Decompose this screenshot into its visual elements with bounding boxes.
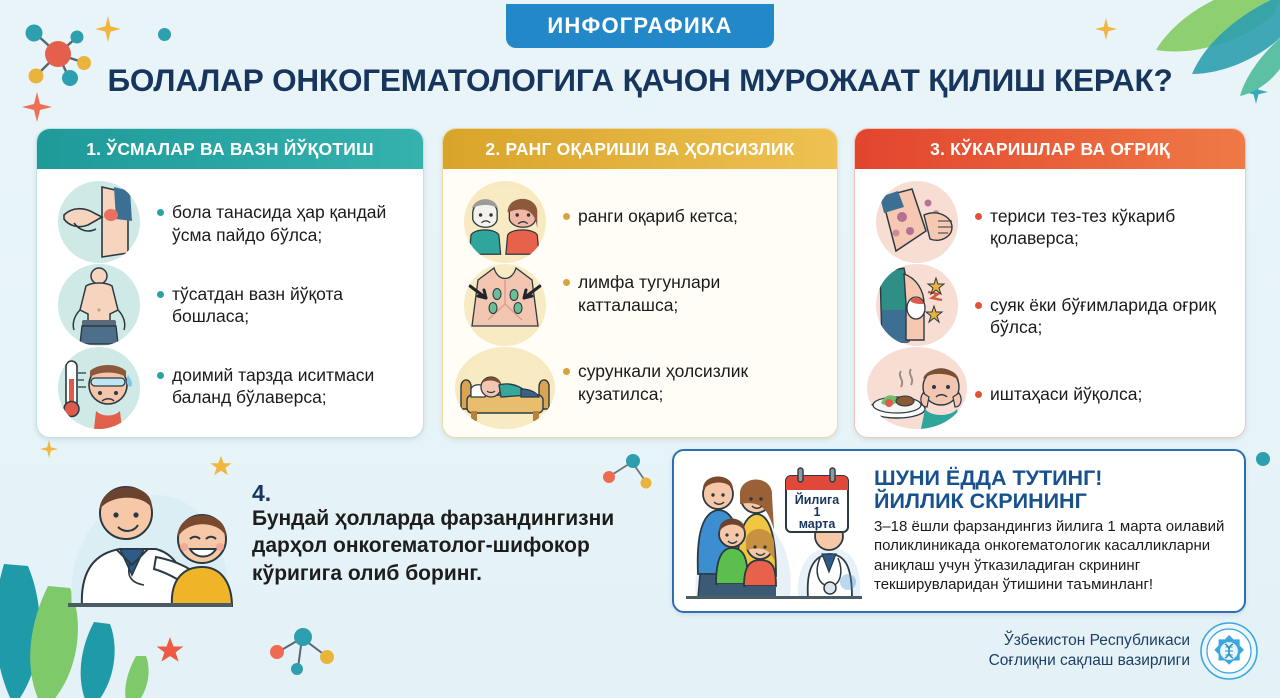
card-2-bullets: ранги оқариб кетса; лимфа тугунлари катт… <box>557 177 829 433</box>
bullet-dot <box>975 213 982 220</box>
bruised-arm-icon <box>876 181 958 263</box>
ministry-name: Ўзбекистон Республикаси Соғлиқни сақлаш … <box>989 631 1190 672</box>
step-4-text: Бундай ҳолларда фарзандингизни дарҳол он… <box>252 505 670 587</box>
bullet-text: ранги оқариб кетса; <box>578 205 738 227</box>
dot-decoration-icon <box>1256 452 1270 466</box>
weight-loss-body-icon <box>58 264 140 346</box>
bullet-dot <box>157 291 164 298</box>
list-item: лимфа тугунлари катталашса; <box>563 271 823 316</box>
infographic-page: ИНФОГРАФИКА БОЛАЛАР ОНКОГЕМАТОЛОГИГА ҚАЧ… <box>0 0 1280 698</box>
star-decoration-icon <box>156 636 184 664</box>
calendar-line-3: марта <box>799 517 837 531</box>
bullet-dot <box>563 368 570 375</box>
list-item: териси тез-тез кўкариб қолаверса; <box>975 205 1231 250</box>
card-3-header: 3. КЎКАРИШЛАР ВА ОҒРИҚ <box>855 129 1245 169</box>
card-1-header: 1. ЎСМАЛАР ВА ВАЗН ЙЎҚОТИШ <box>37 129 423 169</box>
step-4-text-block: 4. Бундай ҳолларда фарзандингизни дарҳол… <box>252 477 670 587</box>
bullet-dot <box>157 209 164 216</box>
bullet-text: лимфа тугунлари катталашса; <box>578 271 823 316</box>
sparkle-decoration-icon <box>95 16 121 42</box>
step-4-number: 4. <box>252 481 670 505</box>
card-2-header: 2. РАНГ ОҚАРИШИ ВА ҲОЛСИЗЛИК <box>443 129 837 169</box>
bullet-dot <box>975 391 982 398</box>
doctor-examining-boy-icon <box>60 457 238 607</box>
footer: Ўзбекистон Республикаси Соғлиқни сақлаш … <box>989 622 1258 680</box>
lump-on-arm-icon <box>58 181 140 263</box>
molecule-decoration-icon <box>268 620 338 680</box>
list-item: сурункали ҳолсизлик кузатилса; <box>563 360 823 405</box>
bullet-text: бола танасида ҳар қандай ўсма пайдо бўлс… <box>172 201 409 246</box>
bullet-dot <box>563 213 570 220</box>
bullet-text: иштаҳаси йўқолса; <box>990 383 1142 405</box>
fever-thermometer-child-icon <box>58 347 140 429</box>
swollen-lymph-nodes-neck-icon <box>464 264 546 346</box>
screening-body-text: 3–18 ёшли фарзандингиз йилига 1 марта ои… <box>874 517 1234 595</box>
bullet-dot <box>975 302 982 309</box>
card-1-icons <box>47 177 151 433</box>
page-title: БОЛАЛАР ОНКОГЕМАТОЛОГИГА ҚАЧОН МУРОЖААТ … <box>0 62 1280 99</box>
bullet-text: териси тез-тез кўкариб қолаверса; <box>990 205 1231 250</box>
card-tumors-weight-loss: 1. ЎСМАЛАР ВА ВАЗН ЙЎҚОТИШ <box>36 128 424 438</box>
dot-decoration-icon <box>158 28 171 41</box>
bullet-text: суяк ёки бўғимларида оғриқ бўлса; <box>990 294 1231 339</box>
list-item: доимий тарзда иситмаси баланд бўлаверса; <box>157 364 409 409</box>
bullet-text: тўсатдан вазн йўқота бошласа; <box>172 283 409 328</box>
ministry-line-2: Соғлиқни сақлаш вазирлиги <box>989 651 1190 671</box>
screening-text-block: ШУНИ ЁДДА ТУТИНГ! ЙИЛЛИК СКРИНИНГ 3–18 ё… <box>872 467 1234 595</box>
screening-headline-1: ШУНИ ЁДДА ТУТИНГ! <box>874 467 1234 490</box>
card-bruises-pain: 3. КЎКАРИШЛАР ВА ОҒРИҚ <box>854 128 1246 438</box>
ministry-of-health-emblem-icon <box>1200 622 1258 680</box>
list-item: иштаҳаси йўқолса; <box>975 383 1231 405</box>
bullet-dot <box>563 279 570 286</box>
card-3-bullets: териси тез-тез кўкариб қолаверса; суяк ё… <box>969 177 1237 433</box>
list-item: бола танасида ҳар қандай ўсма пайдо бўлс… <box>157 201 409 246</box>
card-2-icons <box>453 177 557 433</box>
card-3-icons <box>865 177 969 433</box>
badge-label: ИНФОГРАФИКА <box>547 13 732 39</box>
knee-joint-pain-icon <box>876 264 958 346</box>
list-item: тўсатдан вазн йўқота бошласа; <box>157 283 409 328</box>
bullet-dot <box>157 372 164 379</box>
annual-screening-box: Йилига 1 марта ШУНИ ЁДДА ТУТИНГ! ЙИЛЛИК … <box>672 449 1246 613</box>
step-4-block: 4. Бундай ҳолларда фарзандингизни дарҳол… <box>60 452 670 612</box>
screening-headline-2: ЙИЛЛИК СКРИНИНГ <box>874 490 1234 513</box>
card-1-bullets: бола танасида ҳар қандай ўсма пайдо бўлс… <box>151 177 415 433</box>
list-item: суяк ёки бўғимларида оғриқ бўлса; <box>975 294 1231 339</box>
bullet-text: сурункали ҳолсизлик кузатилса; <box>578 360 823 405</box>
infographic-badge: ИНФОГРАФИКА <box>506 4 774 48</box>
list-item: ранги оқариб кетса; <box>563 205 823 227</box>
sparkle-decoration-icon <box>40 440 58 458</box>
card-pallor-weakness: 2. РАНГ ОҚАРИШИ ВА ҲОЛСИЗЛИК <box>442 128 838 438</box>
pale-children-faces-icon <box>464 181 546 263</box>
family-with-doctor-icon: Йилига 1 марта <box>682 458 866 604</box>
sparkle-decoration-icon <box>1095 18 1117 40</box>
bullet-text: доимий тарзда иситмаси баланд бўлаверса; <box>172 364 409 409</box>
tired-child-on-sofa-icon <box>455 347 555 429</box>
ministry-line-1: Ўзбекистон Республикаси <box>989 631 1190 651</box>
loss-of-appetite-icon <box>867 347 967 429</box>
